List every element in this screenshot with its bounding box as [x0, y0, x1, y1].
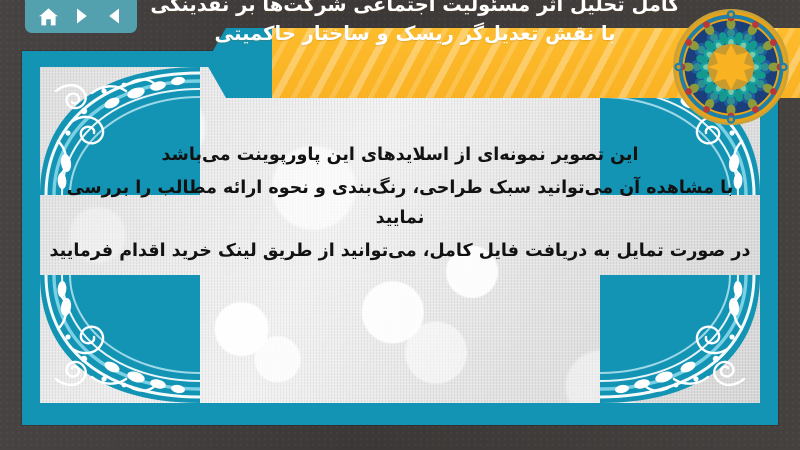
forward-button[interactable]: [69, 5, 93, 27]
body-line-1: این تصویر نمونه‌ای از اسلایدهای این پاور…: [40, 140, 760, 170]
slide-preview-window: کامل تحلیل اثر مسئولیت اجتماعی شرکت‌ها ب…: [0, 0, 800, 450]
slide-body-text: این تصویر نمونه‌ای از اسلایدهای این پاور…: [40, 140, 760, 269]
home-button[interactable]: [36, 5, 60, 27]
arabesque-corner-icon-bottom-right: [600, 275, 760, 403]
mandala-medallion-icon: [672, 8, 790, 126]
banner-arrow-tip-icon: [206, 28, 272, 98]
back-button[interactable]: [102, 5, 126, 27]
navigation-bar: [25, 0, 137, 33]
triangle-left-icon: [106, 7, 123, 25]
triangle-right-icon: [73, 7, 90, 25]
body-line-3: در صورت تمایل به دریافت فایل کامل، می‌تو…: [40, 236, 760, 266]
arabesque-corner-icon-bottom-left: [40, 275, 200, 403]
home-icon: [38, 7, 59, 26]
body-line-2: با مشاهده آن می‌توانید سبک طراحی، رنگ‌بن…: [40, 173, 760, 233]
